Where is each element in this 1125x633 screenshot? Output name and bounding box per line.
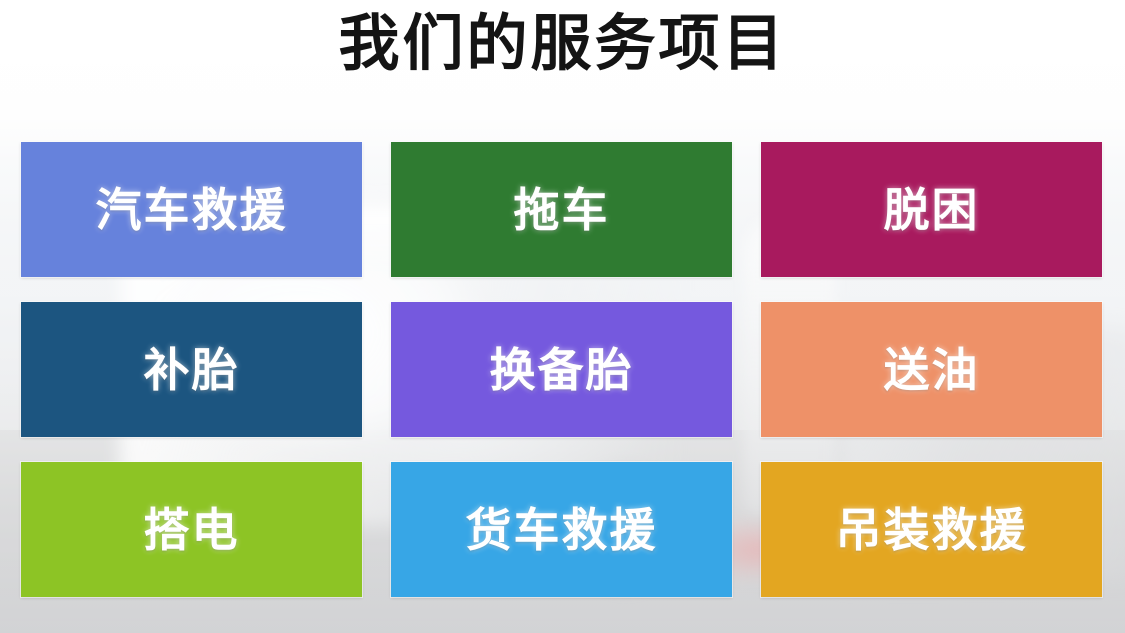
service-tile-label: 汽车救援 bbox=[96, 187, 288, 233]
service-tile-label: 换备胎 bbox=[490, 347, 634, 393]
service-tile-tire-repair[interactable]: 补胎 bbox=[21, 302, 362, 437]
service-tile-label: 货车救援 bbox=[466, 507, 658, 553]
service-tile-fuel-delivery[interactable]: 送油 bbox=[761, 302, 1102, 437]
service-tile-label: 吊装救援 bbox=[836, 507, 1028, 553]
service-tile-truck-rescue[interactable]: 货车救援 bbox=[391, 462, 732, 597]
service-tile-towing[interactable]: 拖车 bbox=[391, 142, 732, 277]
service-tile-label: 拖车 bbox=[514, 187, 610, 233]
service-tile-extrication[interactable]: 脱困 bbox=[761, 142, 1102, 277]
service-tile-label: 补胎 bbox=[144, 347, 240, 393]
service-grid: 汽车救援 拖车 脱困 补胎 换备胎 送油 搭电 货车救援 吊装救援 bbox=[21, 142, 1104, 597]
service-tile-roadside-assistance[interactable]: 汽车救援 bbox=[21, 142, 362, 277]
service-poster: 我们的服务项目 汽车救援 拖车 脱困 补胎 换备胎 送油 搭电 货车救援 吊装救… bbox=[0, 0, 1125, 633]
page-title: 我们的服务项目 bbox=[338, 13, 786, 74]
poster-header: 我们的服务项目 bbox=[0, 0, 1125, 122]
service-tile-label: 送油 bbox=[884, 347, 980, 393]
service-tile-crane-lift-rescue[interactable]: 吊装救援 bbox=[761, 462, 1102, 597]
service-tile-label: 搭电 bbox=[144, 507, 240, 553]
service-tile-jump-start[interactable]: 搭电 bbox=[21, 462, 362, 597]
service-tile-spare-tire-change[interactable]: 换备胎 bbox=[391, 302, 732, 437]
service-tile-label: 脱困 bbox=[884, 187, 980, 233]
